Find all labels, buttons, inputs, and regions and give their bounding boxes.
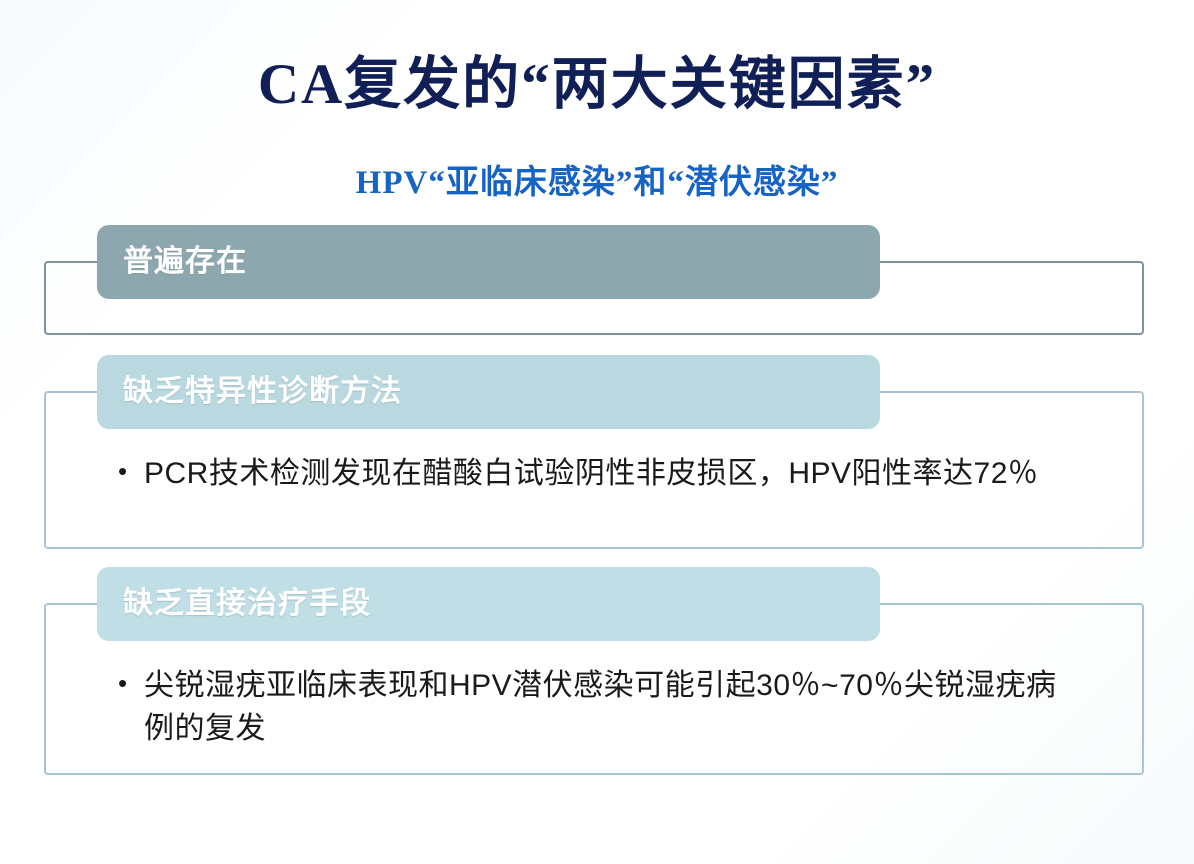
- list-item-text: PCR技术检测发现在醋酸白试验阴性非皮损区，HPV阳性率达72％: [144, 453, 1078, 496]
- bullet-marker-icon: •: [118, 665, 144, 702]
- block-header-lack-of-direct-treatment[interactable]: 缺乏直接治疗手段: [97, 567, 880, 641]
- block-header-label: 普遍存在: [123, 247, 247, 277]
- list-item-text: 尖锐湿疣亚临床表现和HPV潜伏感染可能引起30％~70％尖锐湿疣病例的复发: [144, 665, 1078, 750]
- bullet-marker-icon: •: [118, 453, 144, 490]
- list-item: • 尖锐湿疣亚临床表现和HPV潜伏感染可能引起30％~70％尖锐湿疣病例的复发: [118, 665, 1078, 750]
- slide-canvas: CA复发的“两大关键因素” HPV“亚临床感染”和“潜伏感染” 普遍存在 缺乏特…: [0, 0, 1194, 864]
- block-body: • 尖锐湿疣亚临床表现和HPV潜伏感染可能引起30％~70％尖锐湿疣病例的复发: [118, 665, 1078, 750]
- slide-title: CA复发的“两大关键因素”: [0, 52, 1194, 118]
- block-header-label: 缺乏特异性诊断方法: [123, 377, 402, 407]
- block-header-lack-of-specific-diagnosis[interactable]: 缺乏特异性诊断方法: [97, 355, 880, 429]
- block-header-label: 缺乏直接治疗手段: [123, 589, 371, 619]
- slide-subtitle: HPV“亚临床感染”和“潜伏感染”: [0, 164, 1194, 204]
- block-body: • PCR技术检测发现在醋酸白试验阴性非皮损区，HPV阳性率达72％: [118, 453, 1078, 496]
- list-item: • PCR技术检测发现在醋酸白试验阴性非皮损区，HPV阳性率达72％: [118, 453, 1078, 496]
- block-header-universal-existence[interactable]: 普遍存在: [97, 225, 880, 299]
